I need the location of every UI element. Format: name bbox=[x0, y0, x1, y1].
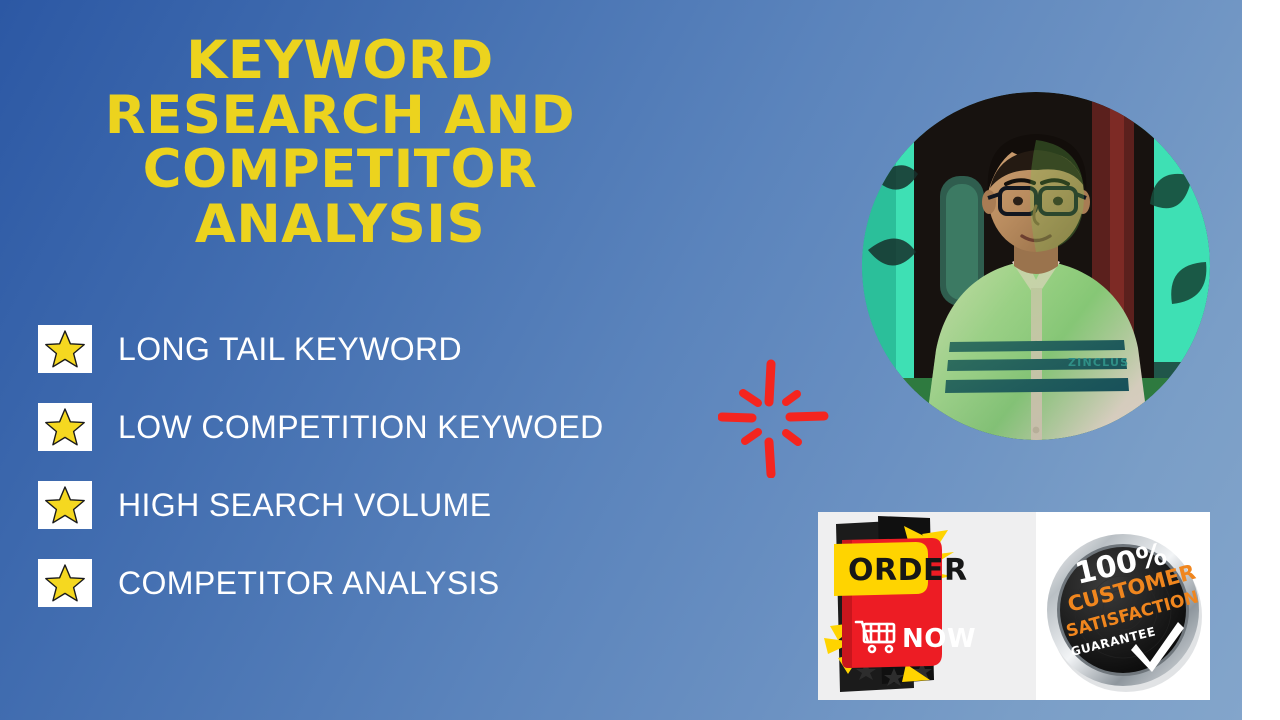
page-title: KEYWORD RESEARCH AND COMPETITOR ANALYSIS bbox=[60, 34, 620, 252]
star-icon bbox=[38, 325, 92, 373]
list-item-label: COMPETITOR ANALYSIS bbox=[118, 565, 500, 602]
order-label: ORDER bbox=[848, 553, 968, 588]
poster-canvas: KEYWORD RESEARCH AND COMPETITOR ANALYSIS… bbox=[0, 0, 1280, 720]
feature-list: LONG TAIL KEYWORD LOW COMPETITION KEYWOE… bbox=[38, 310, 738, 622]
order-now-banner: ORDER NOW bbox=[818, 512, 1036, 700]
list-item: COMPETITOR ANALYSIS bbox=[38, 544, 738, 622]
list-item-label: HIGH SEARCH VOLUME bbox=[118, 487, 491, 524]
list-item: LOW COMPETITION KEYWOED bbox=[38, 388, 738, 466]
red-sparkle-icon bbox=[718, 358, 838, 478]
headline-line-1: KEYWORD bbox=[60, 34, 620, 89]
list-item-label: LONG TAIL KEYWORD bbox=[118, 331, 462, 368]
satisfaction-guarantee-badge: 100% CUSTOMER SATISFACTION GUARANTEE bbox=[1036, 512, 1210, 700]
headline-line-2: RESEARCH AND bbox=[60, 89, 620, 144]
profile-photo: ZINCLUS bbox=[862, 92, 1210, 440]
star-icon bbox=[38, 481, 92, 529]
list-item: LONG TAIL KEYWORD bbox=[38, 310, 738, 388]
star-icon bbox=[38, 559, 92, 607]
list-item-label: LOW COMPETITION KEYWOED bbox=[118, 409, 604, 446]
shirt-text: ZINCLUS bbox=[1068, 356, 1129, 369]
star-icon bbox=[38, 403, 92, 451]
now-label: NOW bbox=[902, 624, 976, 654]
right-white-strip bbox=[1242, 0, 1280, 720]
promo-images: ORDER NOW bbox=[818, 512, 1210, 700]
headline-line-4: ANALYSIS bbox=[60, 198, 620, 253]
headline-line-3: COMPETITOR bbox=[60, 143, 620, 198]
list-item: HIGH SEARCH VOLUME bbox=[38, 466, 738, 544]
